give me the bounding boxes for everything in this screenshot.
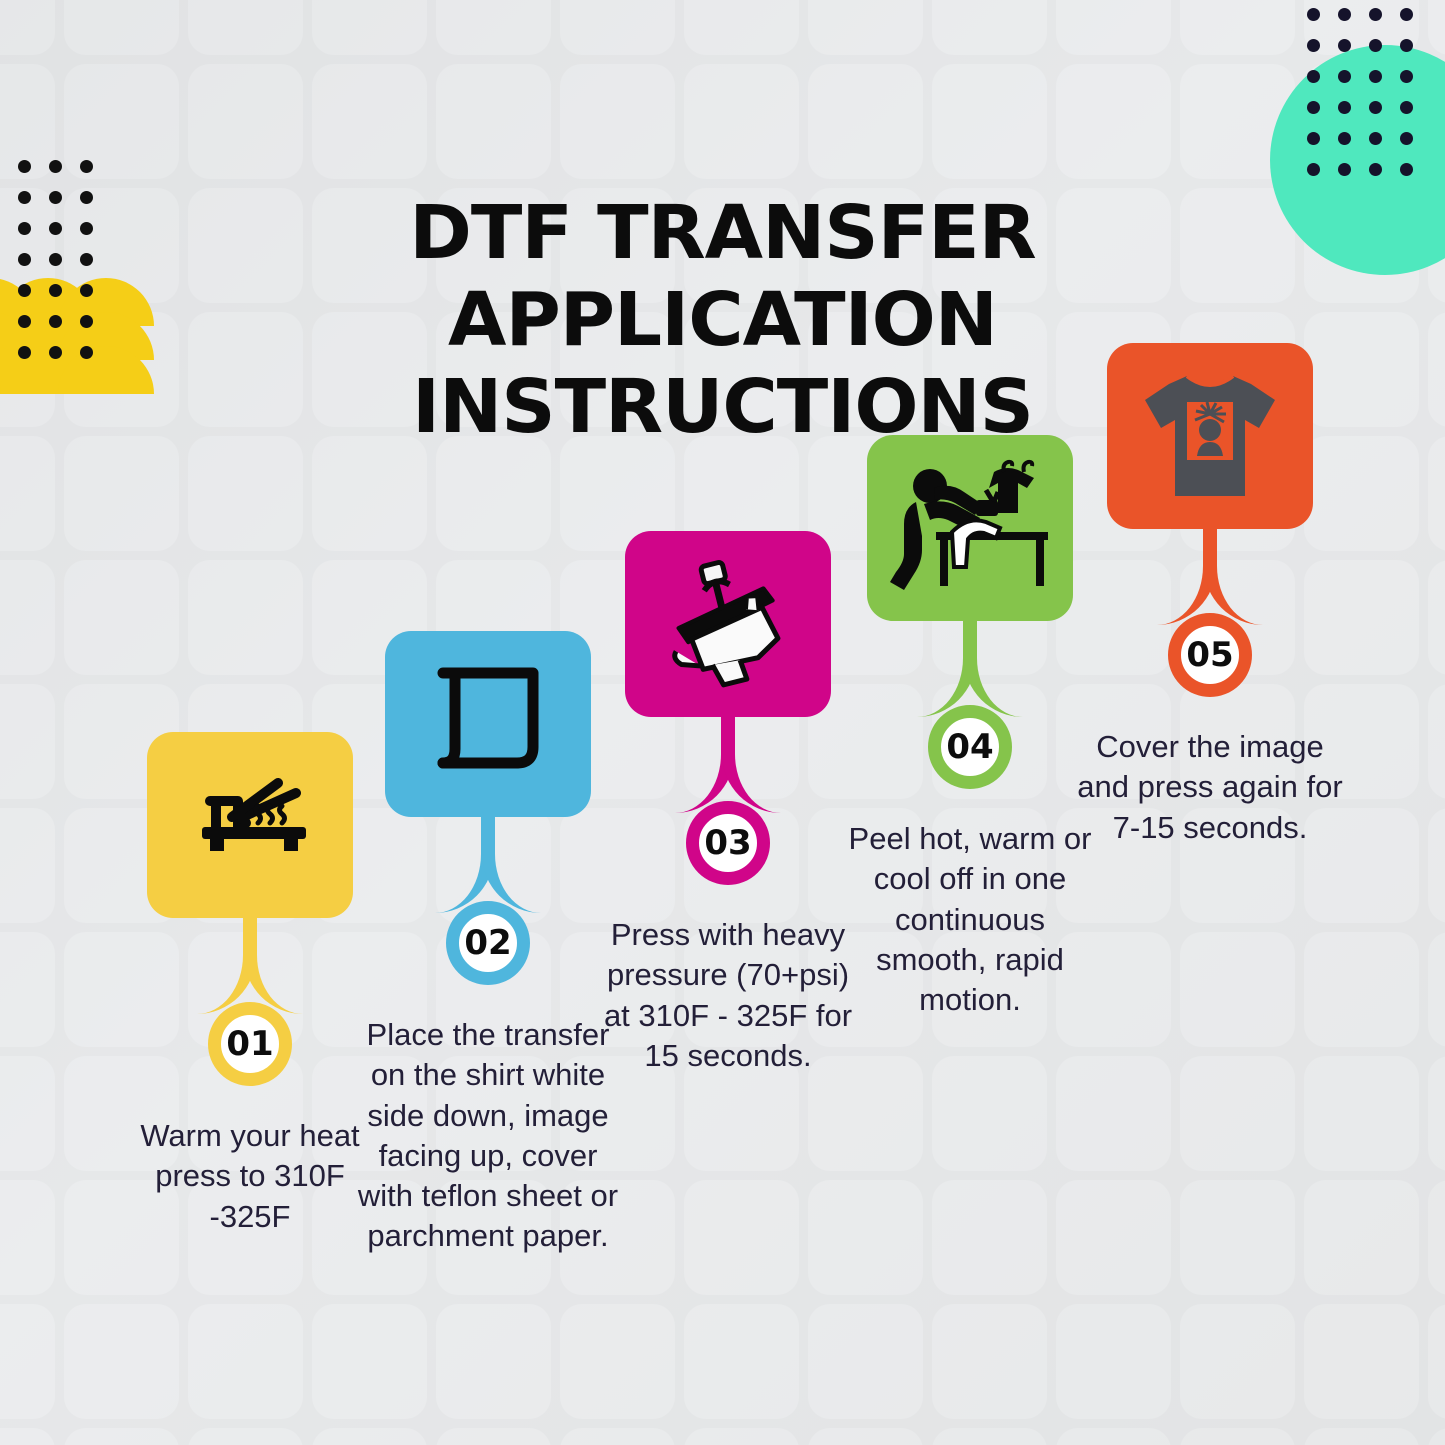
step-05-number: 05 xyxy=(1168,613,1252,697)
step-02-connector xyxy=(348,815,628,911)
step-03-number: 03 xyxy=(686,801,770,885)
step-01-icon-card[interactable] xyxy=(147,732,353,918)
step-03-connector xyxy=(588,715,868,811)
step-05-connector xyxy=(1070,527,1350,623)
step-04: 04 Peel hot, warm or cool off in one con… xyxy=(830,435,1110,1020)
transfer-sheet-icon xyxy=(425,661,551,787)
step-01-number: 01 xyxy=(208,1002,292,1086)
step-03-number-wrap: 03 xyxy=(588,801,868,909)
step-04-number: 04 xyxy=(928,705,1012,789)
step-02-number-wrap: 02 xyxy=(348,901,628,1009)
step-04-connector xyxy=(830,619,1110,715)
step-02-caption: Place the transfer on the shirt white si… xyxy=(348,1015,628,1257)
step-04-number-wrap: 04 xyxy=(830,705,1110,813)
infographic-canvas: DTF TRANSFER APPLICATION INSTRUCTIONS xyxy=(0,0,1445,1445)
step-04-icon-card[interactable] xyxy=(867,435,1073,621)
step-05-number-wrap: 05 xyxy=(1070,613,1350,721)
step-02: 02 Place the transfer on the shirt white… xyxy=(348,631,628,1257)
printed-tshirt-icon xyxy=(1135,366,1285,506)
step-03-icon-card[interactable] xyxy=(625,531,831,717)
person-peeling-transfer-icon xyxy=(890,458,1050,598)
step-05-caption: Cover the image and press again for 7-15… xyxy=(1070,727,1350,848)
heat-press-machine-icon xyxy=(653,554,803,694)
step-02-number: 02 xyxy=(446,901,530,985)
step-04-caption: Peel hot, warm or cool off in one contin… xyxy=(830,819,1110,1020)
step-03-caption: Press with heavy pressure (70+psi) at 31… xyxy=(588,915,868,1076)
step-05-icon-card[interactable] xyxy=(1107,343,1313,529)
step-05: 05 Cover the image and press again for 7… xyxy=(1070,343,1350,848)
step-02-icon-card[interactable] xyxy=(385,631,591,817)
heat-press-open-icon xyxy=(180,765,320,885)
navy-dot-grid-decoration xyxy=(1307,8,1437,208)
step-03: 03 Press with heavy pressure (70+psi) at… xyxy=(588,531,868,1076)
